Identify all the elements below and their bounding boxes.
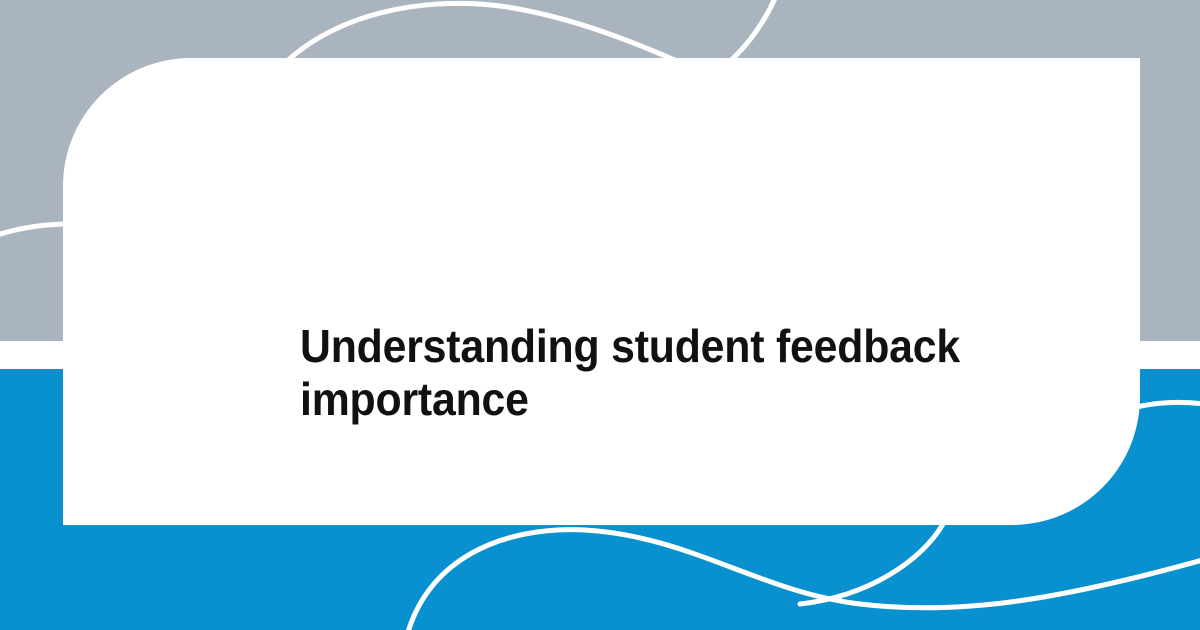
page-title: Understanding student feedback importanc… xyxy=(300,320,1035,426)
content-card: Understanding student feedback importanc… xyxy=(63,58,1140,525)
banner-canvas: Understanding student feedback importanc… xyxy=(0,0,1200,630)
